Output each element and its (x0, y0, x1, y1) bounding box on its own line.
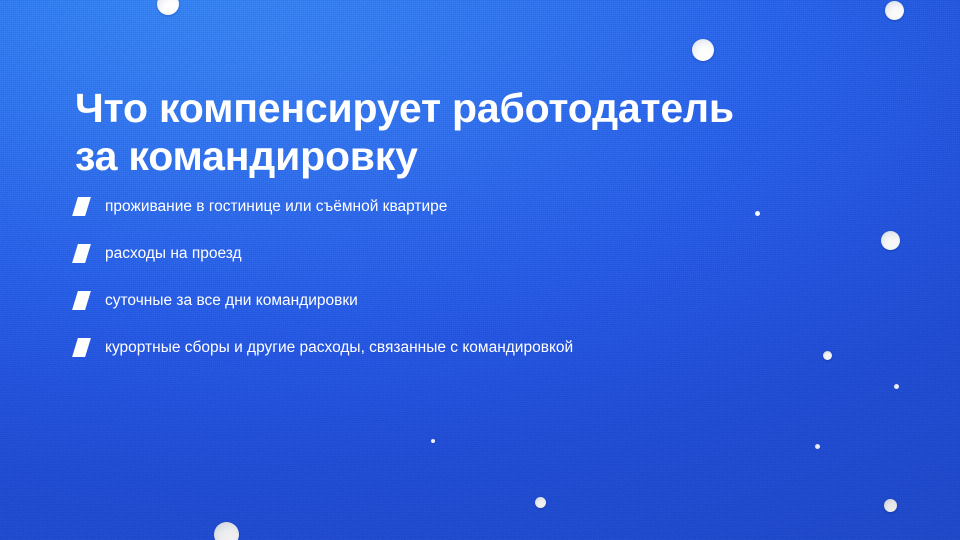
slash-bullet-icon (72, 244, 91, 263)
slide-title: Что компенсирует работодатель за команди… (75, 84, 865, 180)
sphere-top-center (692, 39, 714, 61)
slide-title-line-2: за командировку (75, 132, 865, 180)
sphere-top-left-clipped (157, 0, 179, 15)
slash-bullet-icon (72, 338, 91, 357)
sphere-top-right (885, 1, 904, 20)
sphere-bottom-center (535, 497, 546, 508)
list-item-label: курортные сборы и другие расходы, связан… (105, 338, 573, 358)
presentation-slide: Что компенсирует работодатель за команди… (0, 0, 960, 540)
list-item: курортные сборы и другие расходы, связан… (75, 333, 875, 362)
slide-title-line-1: Что компенсирует работодатель (75, 84, 865, 132)
slash-bullet-icon (72, 197, 91, 216)
bullet-list: проживание в гостинице или съёмной кварт… (75, 192, 875, 380)
sphere-left-tiny (431, 439, 435, 443)
sphere-mid-right (881, 231, 900, 250)
sphere-bottom-left-clipped (214, 522, 239, 540)
sphere-lower-center (815, 444, 820, 449)
sphere-right-tiny (894, 384, 899, 389)
list-item: суточные за все дни командировки (75, 286, 875, 315)
sphere-lower-right (884, 499, 897, 512)
list-item: проживание в гостинице или съёмной кварт… (75, 192, 875, 221)
list-item-label: расходы на проезд (105, 244, 242, 264)
slash-bullet-icon (72, 291, 91, 310)
list-item-label: проживание в гостинице или съёмной кварт… (105, 197, 447, 217)
list-item: расходы на проезд (75, 239, 875, 268)
list-item-label: суточные за все дни командировки (105, 291, 358, 311)
